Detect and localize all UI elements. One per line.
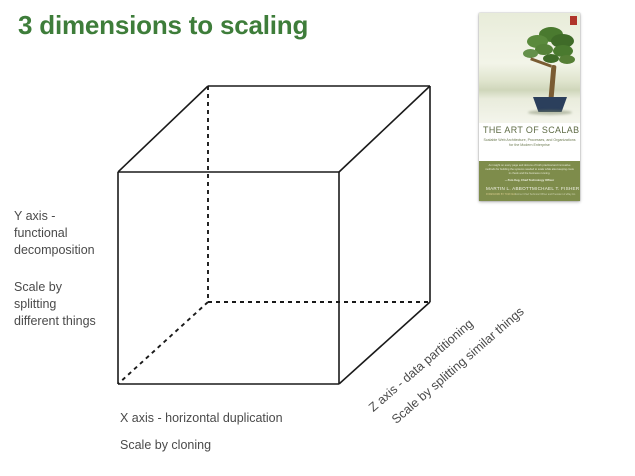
- book-foreword-note: Former Chief Technical Officer and Presi…: [515, 193, 576, 196]
- book-foreword: FOREWORD BY TOM KEG: [486, 193, 516, 196]
- book-title: THE ART OF SCALABILITY: [483, 125, 574, 135]
- slide-canvas: 3 dimensions to scaling Y axis - functio…: [0, 0, 635, 476]
- label-x-axis: X axis - horizontal duplication: [120, 410, 380, 427]
- book-blurb: An insight on every page and dozens of b…: [484, 164, 575, 176]
- book-blurb-source: —Tom Keg, Chief Technology Officer: [484, 178, 575, 182]
- book-author-secondary: MICHAEL T. FISHER: [532, 186, 579, 191]
- label-y-axis: Y axis - functional decomposition: [14, 208, 126, 259]
- label-y-scale: Scale by splitting different things: [14, 279, 126, 330]
- edge-top-left-diagonal: [118, 86, 208, 172]
- edge-bottom-left-diagonal-hidden: [118, 302, 208, 384]
- edge-top-right-diagonal: [339, 86, 430, 172]
- label-x-scale: Scale by cloning: [120, 437, 380, 454]
- book-title-band: THE ART OF SCALABILITY Scalable Web Arch…: [479, 123, 580, 161]
- book-author-primary: MARTIN L. ABBOTT: [486, 186, 532, 191]
- book-cover-photo: [479, 13, 580, 123]
- publisher-logo-icon: [570, 16, 577, 25]
- bonsai-shadow: [528, 110, 572, 115]
- cube-solid-edges: [118, 86, 430, 384]
- book-lower-band: An insight on every page and dozens of b…: [479, 161, 580, 201]
- book-cover-image: THE ART OF SCALABILITY Scalable Web Arch…: [479, 13, 580, 201]
- book-subtitle: Scalable Web Architecture, Processes, an…: [483, 138, 576, 149]
